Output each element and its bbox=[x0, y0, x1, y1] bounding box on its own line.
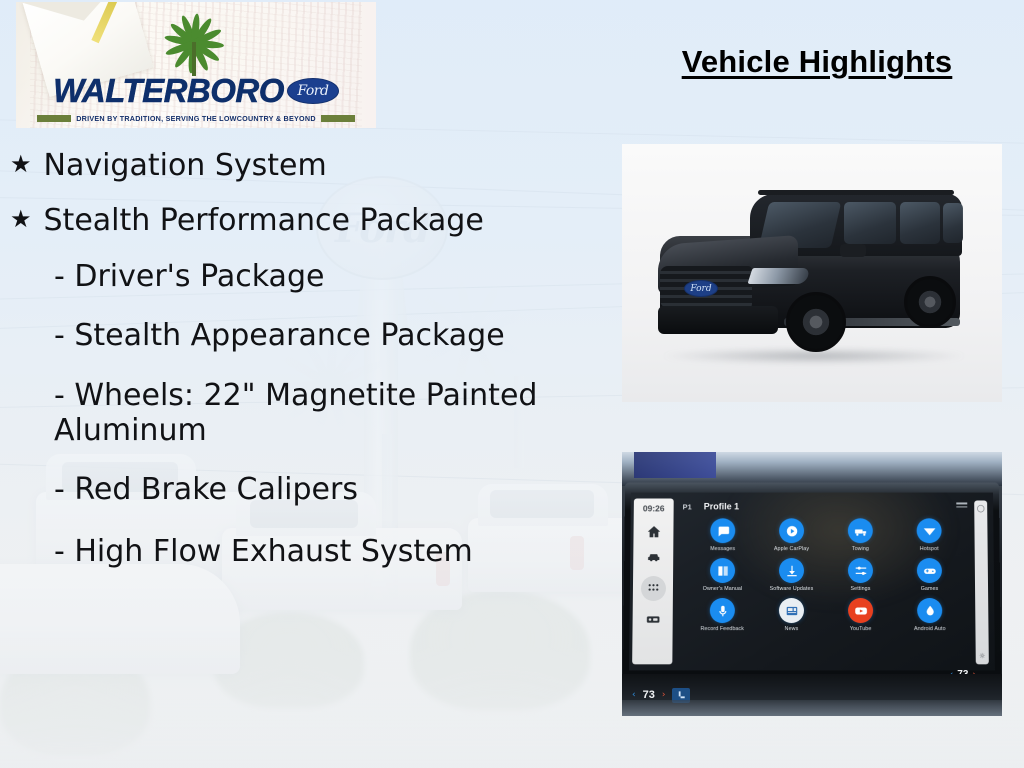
list-item: - Stealth Appearance Package bbox=[10, 318, 610, 353]
dealer-name-text: WALTERBORO bbox=[53, 72, 284, 110]
dealership-logo-mark: WALTERBORO Ford DRIVEN BY TRADITION, SER… bbox=[16, 28, 376, 123]
vehicle-icon[interactable] bbox=[645, 550, 662, 565]
app-tile-android-auto[interactable]: Android Auto bbox=[895, 598, 964, 632]
messages-icon bbox=[710, 518, 735, 543]
vehicle-photo: Ford bbox=[622, 144, 1002, 402]
download-icon bbox=[779, 558, 804, 583]
carplay-icon bbox=[779, 518, 804, 543]
app-label: YouTube bbox=[850, 626, 872, 632]
microphone-icon bbox=[710, 598, 735, 623]
tagline-bar-left bbox=[37, 115, 71, 122]
app-tile-news[interactable]: News bbox=[757, 598, 826, 632]
clock-time: 09:26 bbox=[643, 503, 665, 513]
app-grid: Messages Apple CarPlay Towing bbox=[688, 518, 965, 632]
ford-oval-text: Ford bbox=[297, 83, 328, 99]
app-tile-record-feedback[interactable]: Record Feedback bbox=[688, 598, 757, 632]
app-label: Software Updates bbox=[770, 586, 814, 592]
driver-temp-down-chevron-icon[interactable]: ‹ bbox=[632, 690, 636, 700]
star-bullet-icon: ★ bbox=[10, 148, 32, 181]
tagline-row: DRIVEN BY TRADITION, SERVING THE LOWCOUN… bbox=[37, 114, 355, 123]
news-icon bbox=[779, 598, 804, 623]
palm-tree-icon bbox=[158, 28, 234, 74]
gamepad-icon bbox=[917, 558, 942, 583]
ford-badge-text: Ford bbox=[690, 284, 711, 294]
list-item: - Red Brake Calipers bbox=[10, 472, 610, 507]
app-label: Games bbox=[921, 586, 939, 592]
infotainment-screen: 09:26 P1 Pro bbox=[629, 493, 995, 671]
volume-icon[interactable]: ◯ bbox=[977, 504, 985, 512]
rear-wheel bbox=[904, 276, 956, 328]
settings-icon bbox=[848, 558, 873, 583]
ford-badge-icon: Ford bbox=[684, 280, 718, 297]
dashboard-top bbox=[622, 452, 1002, 486]
driver-temp-up-chevron-icon[interactable]: › bbox=[662, 690, 666, 700]
app-label: News bbox=[785, 626, 799, 632]
list-item: ★ Stealth Performance Package bbox=[10, 203, 610, 238]
app-label: Settings bbox=[851, 586, 871, 592]
list-item: - Wheels: 22" Magnetite Painted Aluminum bbox=[10, 378, 610, 449]
app-tile-apple-carplay[interactable]: Apple CarPlay bbox=[757, 518, 826, 552]
side-window bbox=[844, 202, 896, 244]
headlight bbox=[747, 268, 810, 284]
dealer-wordmark: WALTERBORO Ford bbox=[53, 72, 339, 110]
tagline-bar-right bbox=[321, 115, 355, 122]
manual-icon bbox=[710, 558, 735, 583]
screen-bezel: 09:26 P1 Pro bbox=[623, 483, 1001, 687]
front-wheel bbox=[786, 292, 846, 352]
app-label: Hotspot bbox=[920, 546, 939, 552]
media-icon[interactable] bbox=[644, 612, 661, 627]
list-item-label: Navigation System bbox=[44, 148, 327, 183]
dealer-tagline: DRIVEN BY TRADITION, SERVING THE LOWCOUN… bbox=[76, 114, 316, 123]
android-auto-icon bbox=[917, 598, 942, 623]
front-bumper bbox=[658, 306, 778, 334]
app-label: Apple CarPlay bbox=[774, 546, 809, 552]
profile-tag: P1 bbox=[683, 502, 692, 511]
app-tile-youtube[interactable]: YouTube bbox=[826, 598, 895, 632]
slide-root: Ford bbox=[0, 0, 1024, 768]
list-item-label: Stealth Performance Package bbox=[44, 203, 484, 238]
list-item: - Driver's Package bbox=[10, 259, 610, 294]
app-tile-settings[interactable]: Settings bbox=[826, 558, 895, 592]
app-tile-games[interactable]: Games bbox=[895, 558, 964, 592]
towing-icon bbox=[848, 518, 873, 543]
infotainment-photo: 09:26 P1 Pro bbox=[622, 452, 1002, 716]
youtube-icon bbox=[848, 598, 873, 623]
app-tile-owners-manual[interactable]: Owner's Manual bbox=[688, 558, 757, 592]
side-mirror bbox=[840, 244, 866, 257]
page-title: Vehicle Highlights bbox=[620, 44, 1014, 80]
app-tile-hotspot[interactable]: Hotspot bbox=[895, 518, 964, 552]
roof-rail bbox=[758, 190, 954, 195]
side-window bbox=[900, 202, 940, 244]
apps-grid-icon[interactable] bbox=[640, 576, 665, 601]
app-label: Owner's Manual bbox=[703, 586, 743, 592]
brightness-icon[interactable]: ☼ bbox=[979, 652, 985, 660]
profile-name[interactable]: Profile 1 bbox=[704, 501, 739, 511]
app-label: Towing bbox=[852, 546, 869, 552]
star-bullet-icon: ★ bbox=[10, 203, 32, 236]
menu-icon[interactable] bbox=[956, 502, 967, 509]
app-label: Android Auto bbox=[914, 626, 946, 632]
dealership-logo-image: WALTERBORO Ford DRIVEN BY TRADITION, SER… bbox=[16, 2, 376, 128]
list-item: ★ Navigation System bbox=[10, 148, 610, 183]
app-label: Messages bbox=[710, 546, 735, 552]
screen-status-bar: P1 Profile 1 bbox=[683, 499, 968, 513]
home-icon[interactable] bbox=[645, 524, 662, 539]
ford-oval-icon: Ford bbox=[287, 78, 339, 104]
app-tile-messages[interactable]: Messages bbox=[688, 518, 757, 552]
app-tile-towing[interactable]: Towing bbox=[826, 518, 895, 552]
black-suv-illustration: Ford bbox=[654, 188, 972, 368]
vehicle-highlights-list: ★ Navigation System ★ Stealth Performanc… bbox=[10, 148, 610, 593]
screen-sidebar[interactable]: 09:26 bbox=[632, 499, 674, 665]
list-item: - High Flow Exhaust System bbox=[10, 534, 610, 569]
app-label: Record Feedback bbox=[701, 626, 744, 632]
dashboard-lower-trim bbox=[622, 700, 1002, 716]
hotspot-icon bbox=[917, 518, 942, 543]
side-window bbox=[943, 203, 963, 243]
screen-right-rail[interactable]: ◯ ☼ bbox=[974, 500, 989, 664]
app-tile-software-updates[interactable]: Software Updates bbox=[757, 558, 826, 592]
